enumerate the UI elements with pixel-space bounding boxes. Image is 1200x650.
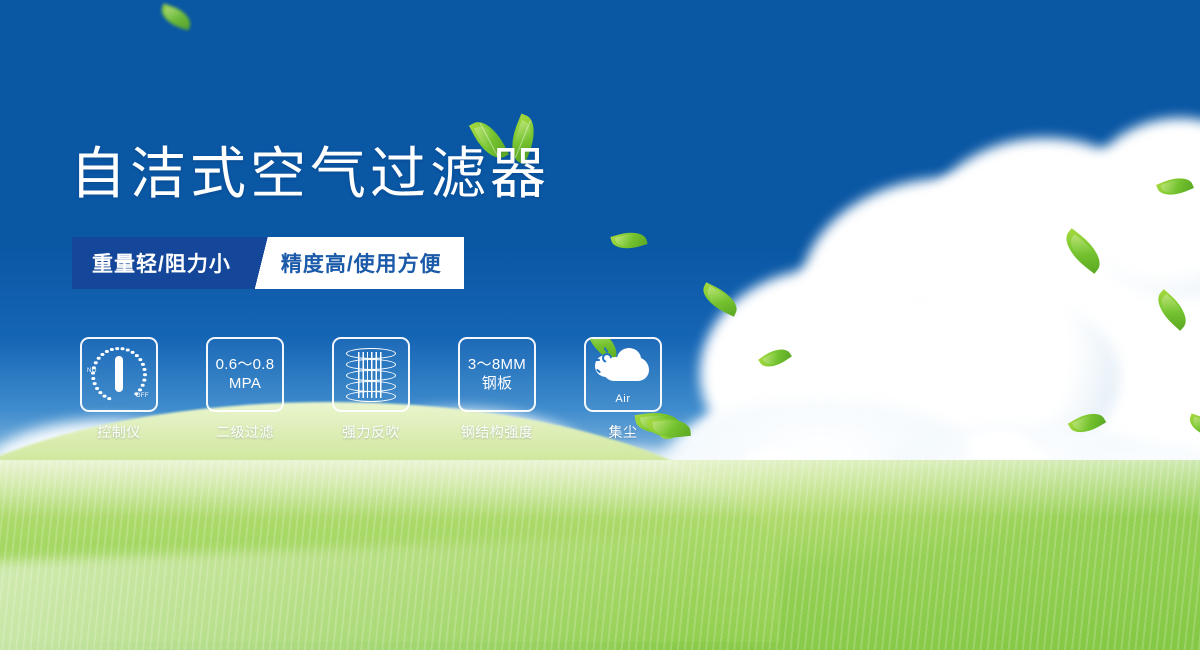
air-label: Air xyxy=(615,393,630,405)
grass-texture-overlay xyxy=(0,460,1200,650)
steel-value-line1: 3〜8MM xyxy=(468,356,526,375)
feature-caption: 钢结构强度 xyxy=(461,422,534,442)
filter-cartridge-icon xyxy=(344,346,398,404)
feature-caption: 集尘 xyxy=(609,422,638,442)
grass-field xyxy=(0,460,1200,650)
feature-caption: 强力反吹 xyxy=(342,422,400,442)
feature-caption: 二级过滤 xyxy=(216,422,274,442)
feature-item-steel-strength[interactable]: 3〜8MM 钢板 钢结构强度 xyxy=(458,337,536,442)
gauge-dial-icon: NO OFF xyxy=(87,344,151,406)
feature-icon-box: Air xyxy=(584,337,662,412)
cloud-body-part xyxy=(603,357,649,381)
banner-subtitle-bar: 重量轻/阻力小 精度高/使用方便 xyxy=(72,237,464,289)
steel-value-line2: 钢板 xyxy=(482,375,513,394)
feature-icon-row: NO OFF 控制仪 0.6〜0.8 MPA 二级过滤 xyxy=(80,337,662,442)
pressure-value-line1: 0.6〜0.8 xyxy=(216,356,275,375)
subtitle-segment-left: 重量轻/阻力小 xyxy=(72,237,249,289)
subtitle-divider-wedge xyxy=(249,237,275,289)
pressure-value-line2: MPA xyxy=(229,375,261,394)
gauge-on-label: NO xyxy=(87,368,97,374)
feature-icon-box: 0.6〜0.8 MPA xyxy=(206,337,284,412)
feature-icon-box xyxy=(332,337,410,412)
feature-icon-box: 3〜8MM 钢板 xyxy=(458,337,536,412)
product-hero-banner: 自洁式空气过滤器 重量轻/阻力小 精度高/使用方便 NO OFF 控制仪 0.6… xyxy=(0,0,1200,650)
cloud-air-icon xyxy=(593,345,653,391)
gauge-needle xyxy=(115,356,123,392)
subtitle-segment-right: 精度高/使用方便 xyxy=(275,237,464,289)
feature-item-back-blow[interactable]: 强力反吹 xyxy=(332,337,410,442)
feature-item-controller[interactable]: NO OFF 控制仪 xyxy=(80,337,158,442)
feature-caption: 控制仪 xyxy=(97,422,141,442)
feature-item-two-stage-filter[interactable]: 0.6〜0.8 MPA 二级过滤 xyxy=(206,337,284,442)
gauge-off-label: OFF xyxy=(136,393,149,399)
banner-title: 自洁式空气过滤器 xyxy=(70,146,550,202)
feature-icon-box: NO OFF xyxy=(80,337,158,412)
